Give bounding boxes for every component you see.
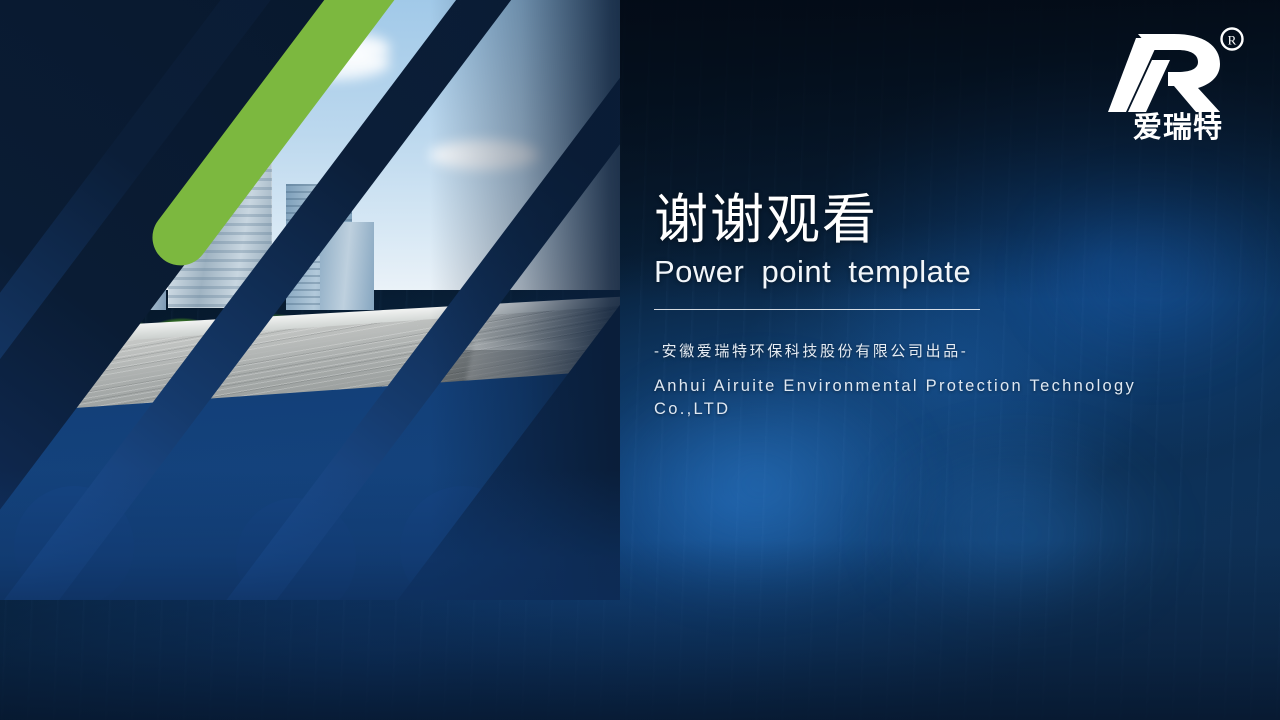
- slide-title-cn: 谢谢观看: [654, 192, 1214, 249]
- company-name-cn: -安徽爱瑞特环保科技股份有限公司出品-: [654, 340, 1214, 361]
- slide-title-en: Power point template: [654, 253, 1214, 292]
- logo-brand-cn: 爱瑞特: [1114, 114, 1242, 143]
- text-block: 谢谢观看 Power point template -安徽爱瑞特环保科技股份有限…: [654, 192, 1214, 422]
- artwork-bottom-fade: [0, 470, 620, 600]
- ar-monogram-icon: R: [1108, 26, 1248, 118]
- company-name-en: Anhui Airuite Environmental Protection T…: [654, 375, 1166, 422]
- registered-r-glyph: R: [1228, 33, 1237, 48]
- company-logo: R 爱瑞特: [1108, 26, 1248, 158]
- decorative-artwork: [0, 0, 620, 600]
- closing-slide: 谢谢观看 Power point template -安徽爱瑞特环保科技股份有限…: [0, 0, 1280, 720]
- title-divider: [654, 309, 980, 310]
